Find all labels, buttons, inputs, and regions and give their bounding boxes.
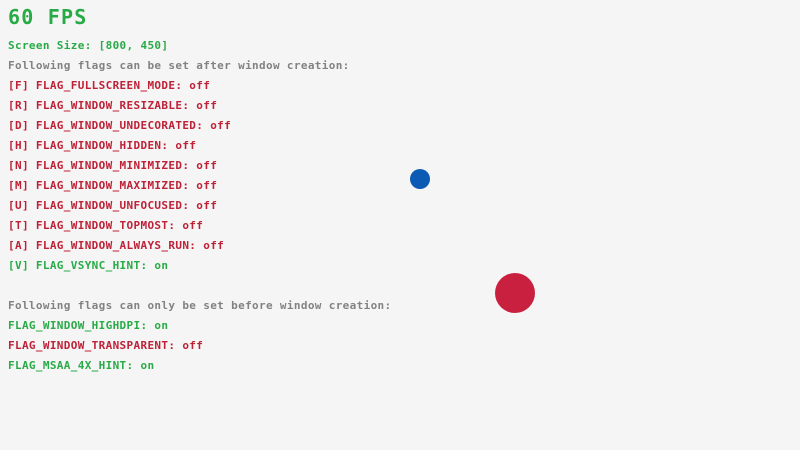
- flag-flag-window-always-run-row[interactable]: [A] FLAG_WINDOW_ALWAYS_RUN: off: [8, 240, 224, 251]
- flag-flag-window-highdpi-row[interactable]: FLAG_WINDOW_HIGHDPI: on: [8, 320, 168, 331]
- red-circle: [495, 273, 535, 313]
- flag-flag-window-unfocused-row[interactable]: [U] FLAG_WINDOW_UNFOCUSED: off: [8, 200, 217, 211]
- flag-flag-window-transparent-row[interactable]: FLAG_WINDOW_TRANSPARENT: off: [8, 340, 203, 351]
- before-creation-heading: Following flags can only be set before w…: [8, 300, 392, 311]
- fps-counter: 60 FPS: [8, 7, 87, 27]
- blue-circle: [410, 169, 430, 189]
- flag-flag-window-resizable-row[interactable]: [R] FLAG_WINDOW_RESIZABLE: off: [8, 100, 217, 111]
- flag-flag-vsync-hint-row[interactable]: [V] FLAG_VSYNC_HINT: on: [8, 260, 168, 271]
- flag-flag-window-undecorated-row[interactable]: [D] FLAG_WINDOW_UNDECORATED: off: [8, 120, 231, 131]
- flag-flag-window-minimized-row[interactable]: [N] FLAG_WINDOW_MINIMIZED: off: [8, 160, 217, 171]
- raylib-window-canvas: 60 FPS Screen Size: [800, 450] Following…: [0, 0, 800, 450]
- flag-flag-msaa-4x-hint-row[interactable]: FLAG_MSAA_4X_HINT: on: [8, 360, 154, 371]
- flag-flag-fullscreen-mode-row[interactable]: [F] FLAG_FULLSCREEN_MODE: off: [8, 80, 210, 91]
- after-creation-heading: Following flags can be set after window …: [8, 60, 350, 71]
- flag-flag-window-maximized-row[interactable]: [M] FLAG_WINDOW_MAXIMIZED: off: [8, 180, 217, 191]
- flag-flag-window-hidden-row[interactable]: [H] FLAG_WINDOW_HIDDEN: off: [8, 140, 196, 151]
- screen-size-label: Screen Size: [800, 450]: [8, 40, 168, 51]
- flag-flag-window-topmost-row[interactable]: [T] FLAG_WINDOW_TOPMOST: off: [8, 220, 203, 231]
